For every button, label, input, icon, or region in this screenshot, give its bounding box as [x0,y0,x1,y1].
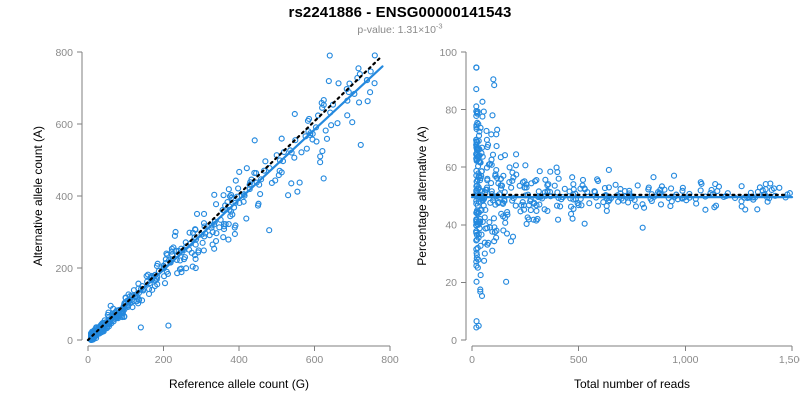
data-point [358,142,363,147]
data-point [536,189,541,194]
data-point [498,155,503,160]
data-point [651,175,656,180]
data-point [482,251,487,256]
data-point [263,159,268,164]
data-point [517,183,522,188]
fit-line [88,66,382,340]
data-point [368,90,373,95]
y-tick-label: 60 [445,162,457,174]
data-point [324,136,329,141]
x-tick-label: 800 [381,354,399,366]
data-point [491,77,496,82]
data-point [244,216,249,221]
data-point [672,173,677,178]
data-point [580,177,585,182]
data-point [318,154,323,159]
data-point [357,100,362,105]
y-tick-label: 200 [55,263,73,275]
data-point [481,109,486,114]
data-point [244,166,249,171]
panel-allele-counts: 02004006008000200400600800Reference alle… [0,0,400,400]
data-point [327,53,332,58]
data-point [509,185,514,190]
data-point [326,79,331,84]
data-point [658,202,663,207]
data-point [507,165,512,170]
data-point [202,211,207,216]
y-tick-label: 80 [445,104,457,116]
data-point [640,225,645,230]
data-point [474,87,479,92]
data-point [474,104,479,109]
data-point [201,221,206,226]
y-tick-label: 100 [439,47,457,59]
x-tick-label: 1,500 [779,354,800,366]
data-point [570,216,575,221]
x-tick-label: 0 [85,354,91,366]
data-point [739,204,744,209]
y-axis-title: Percentage alternative (A) [415,126,429,265]
data-point [295,189,300,194]
data-point [195,211,200,216]
data-point [562,186,567,191]
data-point [698,188,703,193]
x-tick-label: 600 [306,354,324,366]
y-tick-label: 0 [67,335,73,347]
data-point [212,192,217,197]
data-point [292,112,297,117]
data-point [356,66,361,71]
data-point [570,175,575,180]
data-point [626,200,631,205]
data-point [289,181,294,186]
data-point [252,138,257,143]
data-point [214,202,219,207]
data-point [601,200,606,205]
data-point [286,193,291,198]
data-point [184,266,189,271]
data-point [474,319,479,324]
data-point [534,208,539,213]
y-tick-label: 0 [451,335,457,347]
data-point [147,287,152,292]
data-point [537,169,542,174]
data-point [523,163,528,168]
x-tick-label: 200 [155,354,173,366]
data-point [552,183,557,188]
data-point [490,113,495,118]
data-point [226,237,231,242]
data-point [318,160,323,165]
data-point [221,235,226,240]
data-point [232,232,237,237]
data-point [503,220,508,225]
data-point [587,201,592,206]
data-point [138,325,143,330]
data-point [320,149,325,154]
y-tick-label: 400 [55,191,73,203]
y-tick-label: 600 [55,119,73,131]
data-point [635,183,640,188]
scatter-plot-percentage-alternative: 02040608010005001,0001,500Total number o… [400,0,800,400]
x-tick-label: 1,000 [672,354,698,366]
data-point [739,184,744,189]
data-point [484,128,489,133]
data-point [480,114,485,119]
data-point [166,323,171,328]
data-point [582,221,587,226]
x-tick-label: 0 [469,354,475,366]
data-point [606,167,611,172]
data-point [668,204,673,209]
y-axis-title: Alternative allele count (A) [31,126,45,266]
data-point [484,137,489,142]
data-point [299,150,304,155]
data-point [777,185,782,190]
y-tick-label: 800 [55,47,73,59]
x-tick-label: 500 [570,354,588,366]
data-point [613,182,618,187]
data-point [336,81,341,86]
x-tick-label: 400 [230,354,248,366]
data-point [556,217,561,222]
data-point [350,120,355,125]
data-point [482,258,487,263]
data-point [335,121,340,126]
data-point [321,176,326,181]
data-point [297,180,302,185]
data-point [226,187,231,192]
data-point [217,225,222,230]
data-point [478,273,483,278]
data-point [474,279,479,284]
data-point [669,186,674,191]
data-point [513,203,518,208]
data-point [703,207,708,212]
y-tick-label: 40 [445,220,457,232]
data-point [267,228,272,233]
scatter-plot-allele-counts: 02004006008000200400600800Reference alle… [0,0,400,400]
data-point [201,248,206,253]
data-point [233,178,238,183]
data-point [504,279,509,284]
data-point [555,203,560,208]
data-point [492,83,497,88]
data-point [513,163,518,168]
data-point [237,169,242,174]
data-point [528,208,533,213]
panel-percentage-alternative: 02040608010005001,0001,500Total number o… [400,0,800,400]
data-point [504,231,509,236]
data-point [571,182,576,187]
data-point [236,186,241,191]
data-point [489,132,494,137]
data-point [163,281,168,286]
data-point [595,203,600,208]
data-point [304,146,309,151]
x-axis-title: Reference allele count (G) [169,377,309,391]
data-point [323,128,328,133]
data-point [345,113,350,118]
data-point [514,152,519,157]
data-point [491,216,496,221]
data-point [200,240,205,245]
data-point [755,189,760,194]
data-point [604,208,609,213]
data-point [633,204,638,209]
data-point [490,248,495,253]
data-point [292,155,297,160]
data-point [508,239,513,244]
data-point [372,81,377,86]
data-point [258,192,263,197]
data-point [490,152,495,157]
data-point [147,291,152,296]
figure-container: rs2241886 - ENSG00000141543 p-value: 1.3… [0,0,800,400]
data-point [755,207,760,212]
data-point [480,99,485,104]
data-point [329,123,334,128]
data-point [487,220,492,225]
data-point [365,99,370,104]
x-axis-title: Total number of reads [574,377,690,391]
data-point [221,193,226,198]
y-tick-label: 20 [445,277,457,289]
data-point [494,144,499,149]
data-point [279,136,284,141]
data-point [556,176,561,181]
data-point [548,169,553,174]
data-point [616,199,621,204]
data-point [372,53,377,58]
